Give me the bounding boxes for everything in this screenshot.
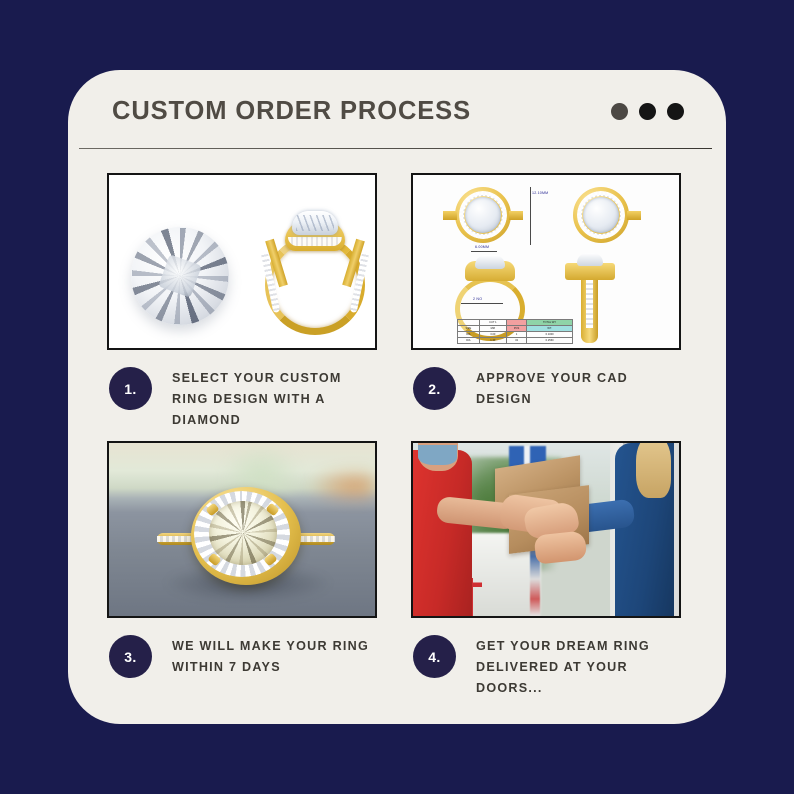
- cad-table-cell: 32: [506, 338, 526, 344]
- step-item-3: 3. WE WILL MAKE YOUR RING WITHIN 7 DAYS: [107, 441, 377, 699]
- cad-view-top-left: [455, 187, 511, 243]
- customer-hair: [636, 443, 671, 498]
- window-dot-1-icon[interactable]: [611, 103, 628, 120]
- loose-diamond-icon: [131, 227, 229, 325]
- step-item-2: 12.10MM 6.00MM 2 NO CUT 1 TOTAL WT.: [411, 173, 681, 431]
- step-2-image[interactable]: 12.10MM 6.00MM 2 NO CUT 1 TOTAL WT.: [411, 173, 681, 350]
- step-item-1: 1. SELECT YOUR CUSTOM RING DESIGN WITH A…: [107, 173, 377, 431]
- steps-grid: 1. SELECT YOUR CUSTOM RING DESIGN WITH A…: [107, 173, 689, 699]
- step-2-label: APPROVE YOUR CAD DESIGN: [476, 366, 681, 410]
- cad-dimension-line-width: [471, 251, 497, 252]
- face-mask-icon: [418, 445, 457, 466]
- step-4-label: GET YOUR DREAM RING DELIVERED AT YOUR DO…: [476, 634, 681, 699]
- step-4-caption: 4. GET YOUR DREAM RING DELIVERED AT YOUR…: [411, 634, 681, 699]
- table-row: DIA 1.30 32 0.2560: [458, 338, 573, 344]
- cad-dimension-label-inner: 2 NO: [473, 297, 482, 301]
- step-1-number-badge: 1.: [109, 367, 152, 410]
- cad-dimension-label-height: 12.10MM: [532, 191, 548, 195]
- process-card: CUSTOM ORDER PROCESS: [68, 70, 726, 724]
- delivery-photo: [413, 443, 679, 616]
- cad-center-stone: [465, 197, 501, 233]
- courier-torso: [413, 450, 472, 616]
- cad-shank-right: [509, 211, 523, 220]
- cad-dimension-label-width: 6.00MM: [475, 245, 489, 249]
- window-dot-3-icon[interactable]: [667, 103, 684, 120]
- step-3-label: WE WILL MAKE YOUR RING WITHIN 7 DAYS: [172, 634, 377, 678]
- header-divider: [79, 148, 712, 149]
- finished-ring-photo: [109, 443, 375, 616]
- step-3-image[interactable]: [107, 441, 377, 618]
- cad-profile-stone: [577, 253, 603, 266]
- step-1-label: SELECT YOUR CUSTOM RING DESIGN WITH A DI…: [172, 366, 377, 431]
- step-1-image[interactable]: [107, 173, 377, 350]
- step-item-4: 4. GET YOUR DREAM RING DELIVERED AT YOUR…: [411, 441, 681, 699]
- step-3-caption: 3. WE WILL MAKE YOUR RING WITHIN 7 DAYS: [107, 634, 377, 678]
- step-1-caption: 1. SELECT YOUR CUSTOM RING DESIGN WITH A…: [107, 366, 377, 431]
- cad-view-top-right: [573, 187, 629, 243]
- cad-table-cell: 1.30: [479, 338, 506, 344]
- step-3-number-badge: 3.: [109, 635, 152, 678]
- window-dots: [611, 103, 684, 120]
- diamond-and-ring-illustration: [109, 175, 375, 348]
- step-2-caption: 2. APPROVE YOUR CAD DESIGN: [411, 366, 681, 410]
- cad-shank-left: [443, 211, 457, 220]
- halo-ring-profile-icon: [259, 205, 371, 337]
- cad-table-cell: 0.2560: [527, 338, 573, 344]
- cad-dimension-line-vertical: [530, 187, 531, 245]
- cad-center-stone: [583, 197, 619, 233]
- customer-hand-lower: [534, 530, 587, 565]
- cad-shank-right: [627, 211, 641, 220]
- cad-table-cell: DIA: [458, 338, 480, 344]
- step-4-number-badge: 4.: [413, 635, 456, 678]
- card-header: CUSTOM ORDER PROCESS: [68, 70, 726, 150]
- cad-sheet-illustration: 12.10MM 6.00MM 2 NO CUT 1 TOTAL WT.: [413, 175, 679, 348]
- cad-dimension-line-inner: [461, 303, 503, 304]
- cad-profile-shank: [581, 277, 598, 343]
- halo-ring-icon: [187, 485, 305, 585]
- cad-side-stone: [475, 255, 505, 269]
- window-dot-2-icon[interactable]: [639, 103, 656, 120]
- cad-spec-table: CUT 1 TOTAL WT. SIZE MM PCS WT. DIA: [457, 319, 573, 344]
- ring-center-stone: [292, 211, 338, 235]
- step-4-image[interactable]: [411, 441, 681, 618]
- step-2-number-badge: 2.: [413, 367, 456, 410]
- page-title: CUSTOM ORDER PROCESS: [112, 97, 471, 126]
